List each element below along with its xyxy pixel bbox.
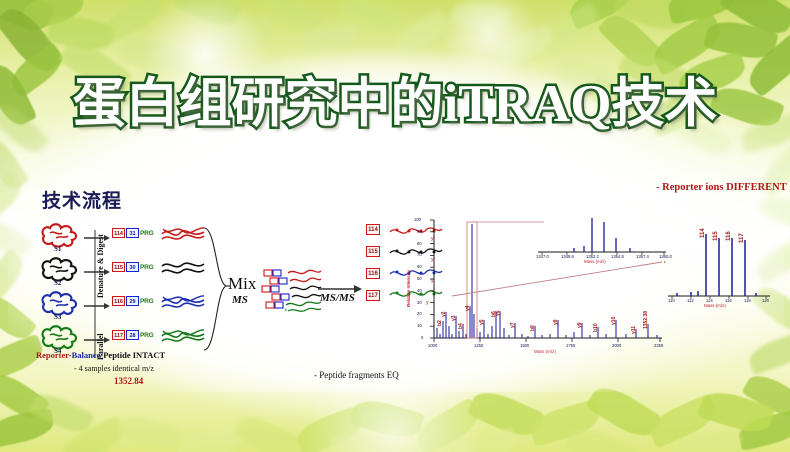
reporter-peak-label: 114 <box>700 228 706 238</box>
process-bracket <box>92 230 98 358</box>
itraq-tag-group: 114 31 PRG <box>112 228 154 238</box>
peak-label: b8 <box>530 325 536 331</box>
inset-x-tick: 1354.8 <box>611 254 624 259</box>
ms2-reporter-tag: 117 <box>366 290 380 301</box>
precursor-mz-value: 1352.84 <box>114 376 143 386</box>
y-tick: 60 <box>417 264 422 269</box>
peptide-strands-icon <box>160 292 206 312</box>
slide-title-container: 蛋白组研究中的iTRAQ技术 <box>0 78 790 131</box>
inset-x-tick: 1349.6 <box>561 254 574 259</box>
reporter-x-tick: 118 <box>744 298 751 303</box>
sample-label: S3 <box>54 313 61 321</box>
balance-tag: 29 <box>126 296 139 306</box>
ms2-reporter-tag: 116 <box>366 268 380 279</box>
fragments-eq-note: - Peptide fragments EQ <box>314 370 399 380</box>
sample-row: S3 116 29 PRG <box>32 290 202 324</box>
peak-label: y4 <box>465 305 471 311</box>
reporter-x-axis-label: Mass (m/z) <box>704 303 726 308</box>
reporter-x-tick: 110 <box>668 298 675 303</box>
prg-label: PRG <box>140 298 154 305</box>
reporter-peak-label: 117 <box>739 233 745 243</box>
reporter-x-tick: 116 <box>725 298 732 303</box>
balance-tag: 30 <box>126 262 139 272</box>
peak-label: y11 <box>631 326 637 334</box>
reporter-tag: 117 <box>112 330 125 340</box>
y-tick: 30 <box>417 300 422 305</box>
peak-label: y10 <box>611 317 617 325</box>
slide-canvas: 蛋白组研究中的iTRAQ技术 技术流程 S1 114 31 <box>0 0 790 452</box>
peak-label: 1352.38 <box>643 311 649 329</box>
itraq-tag-group: 116 29 PRG <box>112 296 154 306</box>
sample-row: S2 115 30 PRG <box>32 256 202 290</box>
peak-label: y2 <box>441 311 447 317</box>
y-tick: 0 <box>421 335 423 340</box>
x-tick: 1500 <box>520 343 529 348</box>
content-panel: 技术流程 S1 114 31 PRG <box>18 176 774 384</box>
balance-tag: 28 <box>126 330 139 340</box>
peak-label: b4 <box>458 323 464 329</box>
ms2-reporter-tag: 115 <box>366 246 380 257</box>
prg-label: PRG <box>140 230 154 237</box>
msms-label: MS/MS <box>320 292 355 304</box>
intact-note: Reporter-Balance-Peptide INTACT <box>36 350 165 360</box>
peak-label: y5 <box>479 319 485 325</box>
reporter-peak-label: 115 <box>713 231 719 241</box>
y-tick: 40 <box>417 288 422 293</box>
x-tick: 1000 <box>428 343 437 348</box>
y-tick: 50 <box>417 276 422 281</box>
ms2-reporter-tag: 114 <box>366 224 380 235</box>
ms-label: MS <box>232 294 248 306</box>
reporter-tag: 115 <box>112 262 125 272</box>
peptide-strands-icon <box>160 326 206 346</box>
svg-text:×: × <box>284 308 288 314</box>
mix-label: Mix <box>228 274 256 294</box>
x-tick: 2000 <box>612 343 621 348</box>
mixed-peptides-icon: × <box>260 266 322 316</box>
peak-label: b2 <box>437 320 443 326</box>
reporter-x-tick: 120 <box>762 298 769 303</box>
sample-label: S1 <box>54 245 61 253</box>
y-tick: 100 <box>414 217 421 222</box>
reporter-tag: 116 <box>112 296 125 306</box>
y-tick: 80 <box>417 241 422 246</box>
itraq-tag-group: 117 28 PRG <box>112 330 154 340</box>
section-title: 技术流程 <box>42 186 122 213</box>
prg-label: PRG <box>140 332 154 339</box>
prg-label: PRG <box>140 264 154 271</box>
peak-label: y3 <box>451 315 457 321</box>
x-axis-label: Mass (m/z) <box>534 349 556 354</box>
x-tick: 1250 <box>474 343 483 348</box>
reporter-peak-label: 116 <box>726 231 732 241</box>
y-tick: 90 <box>417 229 422 234</box>
merge-brace <box>202 224 230 356</box>
peak-label: y6 <box>495 310 501 316</box>
peak-label: b10 <box>593 323 599 332</box>
reporter-x-tick: 112 <box>687 298 694 303</box>
sample-label: S2 <box>54 279 61 287</box>
y-tick: 70 <box>417 252 422 257</box>
x-tick: 1750 <box>566 343 575 348</box>
sample-row: S1 114 31 PRG <box>32 222 202 256</box>
itraq-tag-group: 115 30 PRG <box>112 262 154 272</box>
reporter-tag: 114 <box>112 228 125 238</box>
y-axis-label: Relative Intensity <box>406 270 411 307</box>
reporter-ions-note: - Reporter ions DIFFERENT <box>656 182 787 193</box>
balance-tag: 31 <box>126 228 139 238</box>
peptide-strands-icon <box>160 258 206 278</box>
page-title: 蛋白组研究中的iTRAQ技术 <box>73 78 718 131</box>
peak-label: y8 <box>553 319 559 325</box>
y-tick: 20 <box>417 311 422 316</box>
peptide-strands-icon <box>160 224 206 244</box>
peak-label: y9 <box>577 322 583 328</box>
y-tick: 10 <box>417 323 422 328</box>
identical-mz-note: - 4 samples identical m/z <box>74 364 154 373</box>
x-tick: 2250 <box>654 343 663 348</box>
workflow-diagram: S1 114 31 PRG <box>32 222 432 382</box>
inset-x-axis-label: Mass (m/z) <box>584 259 606 264</box>
inset-x-tick: 1357.4 <box>636 254 649 259</box>
mass-spectrum-panel: 100 90 80 70 60 50 40 30 20 10 0 Relativ… <box>416 216 774 381</box>
peak-label: y7 <box>510 322 516 328</box>
reporter-inset-chart <box>664 216 774 312</box>
inset-x-tick: 1347.0 <box>536 254 549 259</box>
precursor-inset-chart <box>534 208 670 264</box>
